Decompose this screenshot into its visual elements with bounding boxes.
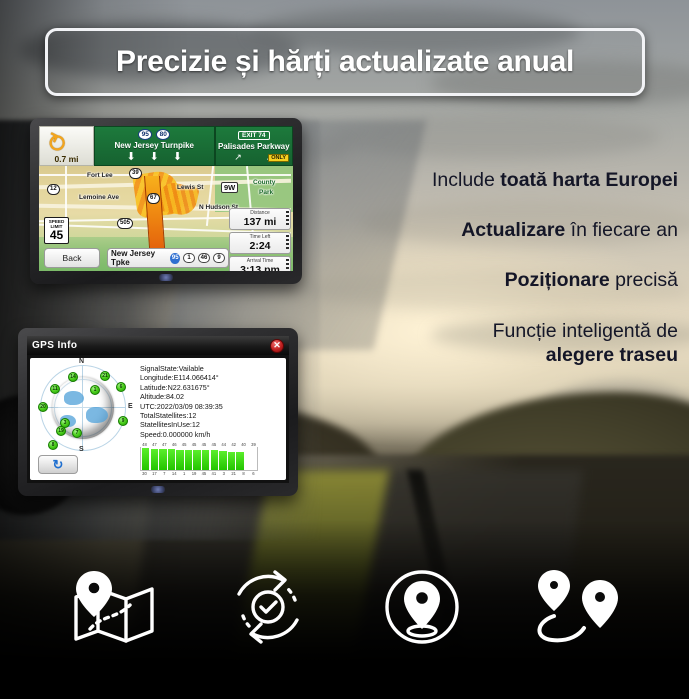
chart-value-labels: 484747464545454544424039 [140, 442, 258, 447]
compass-east: E [128, 403, 133, 410]
current-street-name: New Jersey Tpke [111, 249, 167, 267]
chart-bars [140, 447, 258, 471]
feature-text-tail: precisă [610, 269, 678, 291]
current-street-bar[interactable]: New Jersey Tpke 95 1 46 9 [107, 248, 229, 268]
satellite-dot: 19 [56, 426, 66, 436]
route-badge: 505 [117, 218, 133, 229]
chart-category-label: 30 [140, 471, 149, 476]
chart-bar [151, 449, 158, 471]
chart-category-label: 17 [150, 471, 159, 476]
route-badge: 1 [183, 253, 195, 263]
only-badge: ONLY [268, 154, 289, 162]
feature-text-bold: alegere traseu [546, 344, 678, 366]
chart-category-label: 1 [180, 471, 189, 476]
satellite-dot: 11 [50, 384, 60, 394]
chart-bar [193, 450, 200, 471]
chart-bar [219, 451, 226, 470]
device-logo [151, 486, 165, 493]
satellite-dot: 7 [72, 428, 82, 438]
chart-value-label: 46 [170, 442, 179, 447]
feature-item: Poziționare precisă [505, 268, 678, 292]
route-label-9w: 9W [221, 182, 238, 193]
route-shield: 80 [156, 129, 170, 140]
navigation-header: ⥁ 0.7 mi 95 80 New Jersey Turnpike ⬇ ⬇ ⬇… [39, 126, 293, 166]
feature-item: Include toată harta Europei [432, 168, 678, 192]
info-value: 2:24 [249, 240, 270, 252]
satellite-dot: 1 [90, 385, 100, 395]
gps-data-line: Speed:0.000000 km/h [140, 430, 282, 439]
feature-item: Actualizare în fiecare an [461, 218, 678, 242]
lane-arrow-down-icon: ⬇ [173, 152, 182, 163]
map-label-park: Park [259, 189, 273, 196]
page-title: Precizie și hărți actualizate anual [116, 45, 574, 79]
lane-arrow-down-icon: ⬇ [126, 152, 135, 163]
chart-value-label: 45 [190, 442, 199, 447]
globe-landmass [86, 407, 108, 423]
map-label: Fort Lee [87, 172, 113, 179]
chart-value-label: 48 [140, 442, 149, 447]
satellite-signal-chart: 484747464545454544424039 301771411945413… [140, 442, 258, 476]
feature-text-tail: în fiecare an [565, 219, 678, 241]
chart-value-label: 45 [180, 442, 189, 447]
chart-category-label: 41 [209, 471, 218, 476]
route-shield: 95 [138, 129, 152, 140]
map-label-park: County [253, 179, 275, 186]
route-badge: 46 [198, 253, 210, 263]
shield-group: 95 80 [138, 129, 170, 140]
map-label: Lemoine Ave [79, 194, 119, 201]
lane-arrows: ⬇ ⬇ ⬇ [126, 152, 182, 163]
chart-bar [185, 450, 192, 471]
gps-title-bar: GPS Info ✕ [27, 336, 289, 355]
feature-item: Funcție inteligentă de alegere traseu [493, 319, 678, 367]
feature-text-regular: Include [432, 169, 500, 191]
compass-south: S [79, 446, 84, 453]
gps-data-line: StatellitesInUse:12 [140, 420, 282, 429]
satellite-radar: N E S 14 21 6 9 1 20 11 3 19 7 8 ↻ [30, 358, 138, 480]
exit-name: Palisades Parkway [218, 142, 290, 151]
chart-bar [142, 448, 149, 470]
chart-category-labels: 3017714119454132186 [140, 471, 258, 476]
chart-category-label: 45 [199, 471, 208, 476]
chart-category-label: 8 [239, 471, 248, 476]
headline-banner: Precizie și hărți actualizate anual [45, 28, 645, 96]
globe-landmass [64, 391, 84, 405]
highway-name: New Jersey Turnpike [115, 141, 194, 150]
chart-category-label: 7 [160, 471, 169, 476]
trip-info-panel: Distance 137 mi Time Left 2:24 Arrival T… [229, 208, 291, 271]
lane-arrow-up-right-icon: ↗ [234, 153, 242, 162]
chart-category-label: 19 [190, 471, 199, 476]
gps-device-info: GPS Info ✕ N E S 14 21 6 9 [18, 328, 298, 496]
exit-number-tag: EXIT 74 [238, 131, 269, 140]
feature-text-bold: Actualizare [461, 219, 565, 241]
feature-text-bold: toată harta Europei [500, 169, 678, 191]
gps-content: N E S 14 21 6 9 1 20 11 3 19 7 8 ↻ Signa… [30, 358, 286, 480]
gps-data-line: UTC:2022/03/09 08:39:35 [140, 402, 282, 411]
back-button[interactable]: Back [44, 248, 100, 268]
gps-data-line: TotalStatellites:12 [140, 411, 282, 420]
route-badge: 39 [129, 168, 142, 179]
map-label: Lewis St [177, 184, 203, 191]
chart-value-label: 47 [150, 442, 159, 447]
chart-value-label: 47 [160, 442, 169, 447]
trip-info-distance[interactable]: Distance 137 mi [229, 208, 291, 230]
feature-text-bold: Poziționare [505, 269, 610, 291]
gps-info-screen[interactable]: GPS Info ✕ N E S 14 21 6 9 [27, 336, 289, 483]
satellite-dot: 14 [68, 372, 78, 382]
chart-value-label: 39 [249, 442, 258, 447]
chart-bar [211, 450, 218, 470]
navigation-screen[interactable]: ⥁ 0.7 mi 95 80 New Jersey Turnpike ⬇ ⬇ ⬇… [39, 126, 293, 271]
chart-value-label: 40 [239, 442, 248, 447]
route-badge: 12 [47, 184, 60, 195]
gps-data-line: Latitude:N22.631675° [140, 383, 282, 392]
speed-limit-sign: SPEED LIMIT 45 [44, 217, 69, 244]
highway-sign-exit: EXIT 74 Palisades Parkway ↗ ↗ ONLY [215, 126, 293, 166]
refresh-icon[interactable]: ↻ [38, 455, 78, 474]
chart-value-label: 42 [229, 442, 238, 447]
gps-data-line: Altitude:84.02 [140, 392, 282, 401]
satellite-dot: 9 [118, 416, 128, 426]
turn-indicator: ⥁ 0.7 mi [39, 126, 94, 166]
chart-category-label: 14 [170, 471, 179, 476]
chart-category-label: 6 [249, 471, 258, 476]
compass-north: N [79, 358, 84, 365]
gps-data-line: Longitude:E114.066414° [140, 373, 282, 382]
map-with-pin-icon [66, 559, 162, 655]
satellite-dot: 21 [100, 371, 110, 381]
route-two-pins-icon [528, 559, 624, 655]
chart-bar [228, 452, 235, 470]
gps-readout: SignalState:Vailable Longitude:E114.0664… [138, 358, 286, 480]
chart-value-label: 45 [199, 442, 208, 447]
map-canvas[interactable]: Fort Lee Lemoine Ave Lewis St N Hudson S… [39, 166, 293, 271]
feature-text-regular: Funcție inteligentă de [493, 320, 678, 342]
close-icon[interactable]: ✕ [270, 339, 284, 353]
route-badge: 67 [147, 193, 160, 204]
chart-value-label: 44 [219, 442, 228, 447]
feature-icon-row [0, 552, 689, 662]
chart-value-label: 45 [209, 442, 218, 447]
circled-location-pin-icon [374, 559, 470, 655]
route-badge: 9 [213, 253, 225, 263]
device-logo [159, 274, 173, 281]
chart-category-label: 3 [219, 471, 228, 476]
info-value: 137 mi [244, 216, 277, 228]
speed-limit-value: 45 [50, 229, 63, 241]
chart-category-label: 21 [229, 471, 238, 476]
chart-bar [176, 450, 183, 471]
route-shield-95: 95 [170, 253, 180, 264]
refresh-check-icon [220, 559, 316, 655]
chart-bar [168, 449, 175, 470]
gps-device-navigation: ⥁ 0.7 mi 95 80 New Jersey Turnpike ⬇ ⬇ ⬇… [30, 118, 302, 284]
satellite-dot: 20 [38, 402, 48, 412]
highway-sign-main: 95 80 New Jersey Turnpike ⬇ ⬇ ⬇ [94, 126, 215, 166]
trip-info-time-left[interactable]: Time Left 2:24 [229, 232, 291, 254]
satellite-dot: 8 [48, 440, 58, 450]
turn-distance: 0.7 mi [54, 154, 78, 164]
trip-info-arrival[interactable]: Arrival Time 3:13 pm [229, 256, 291, 271]
satellite-dot: 6 [116, 382, 126, 392]
chart-bar [202, 450, 209, 471]
gps-data-line: SignalState:Vailable [140, 364, 282, 373]
chart-bar [159, 449, 166, 471]
feature-list: Include toată harta Europei Actualizare … [338, 168, 678, 367]
gps-window-title: GPS Info [32, 340, 77, 351]
chart-bar [236, 452, 243, 470]
info-value: 3:13 pm [240, 264, 280, 271]
lane-arrow-down-icon: ⬇ [150, 152, 159, 163]
